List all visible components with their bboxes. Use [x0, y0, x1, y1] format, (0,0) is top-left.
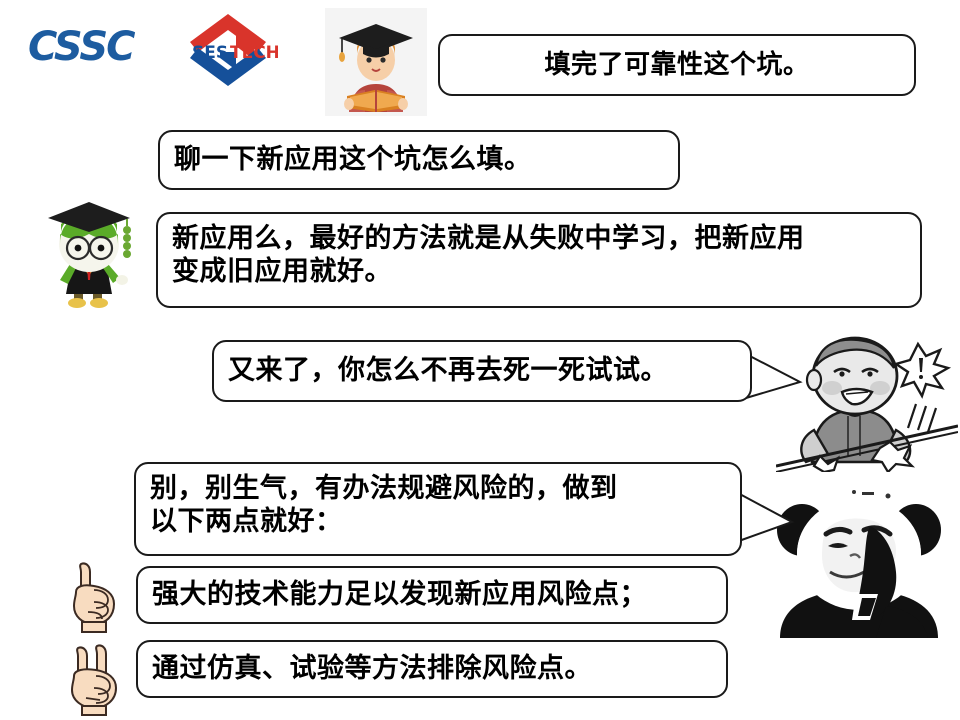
cssc-logo: CSSC — [28, 24, 133, 70]
speech-bubble-2[interactable]: 聊一下新应用这个坑怎么填。 — [158, 130, 680, 190]
speech-bubble-5[interactable]: 别，别生气，有办法规避风险的，做到 以下两点就好： — [134, 462, 742, 556]
speech-bubble-5-text: 别，别生气，有办法规避风险的，做到 以下两点就好： — [150, 472, 618, 539]
sestech-logo: SES TECH — [178, 8, 278, 92]
speech-bubble-1[interactable]: 填完了可靠性这个坑。 — [438, 34, 916, 96]
speech-bubble-6-text: 强大的技术能力足以发现新应用风险点； — [152, 578, 647, 611]
green-haired-professor-avatar — [30, 188, 148, 310]
speech-bubble-3[interactable]: 新应用么，最好的方法就是从失败中学习，把新应用 变成旧应用就好。 — [156, 212, 922, 308]
hand-peace-sign-two-icon — [64, 640, 126, 716]
speech-bubble-3-text: 新应用么，最好的方法就是从失败中学习，把新应用 变成旧应用就好。 — [172, 222, 805, 289]
sestech-tech-text: TECH — [230, 43, 278, 63]
student-with-book-avatar — [325, 8, 427, 116]
speech-bubble-1-text: 填完了可靠性这个坑。 — [454, 49, 900, 81]
speech-bubble-4-text: 又来了，你怎么不再去死一死试试。 — [228, 354, 668, 387]
slide-canvas: CSSC SES TECH — [0, 0, 960, 720]
sestech-ses-text: SES — [192, 43, 228, 63]
hand-index-finger-one-icon — [64, 558, 126, 634]
speech-bubble-2-text: 聊一下新应用这个坑怎么填。 — [174, 143, 532, 176]
speech-bubble-6[interactable]: 强大的技术能力足以发现新应用风险点； — [136, 566, 728, 624]
speech-bubble-7-text: 通过仿真、试验等方法排除风险点。 — [152, 652, 592, 685]
speech-bubble-4[interactable]: 又来了，你怎么不再去死一死试试。 — [212, 340, 752, 402]
speech-bubble-5-tail — [734, 490, 798, 548]
speech-bubble-4-tail — [744, 352, 806, 404]
speech-bubble-7[interactable]: 通过仿真、试验等方法排除风险点。 — [136, 640, 728, 698]
